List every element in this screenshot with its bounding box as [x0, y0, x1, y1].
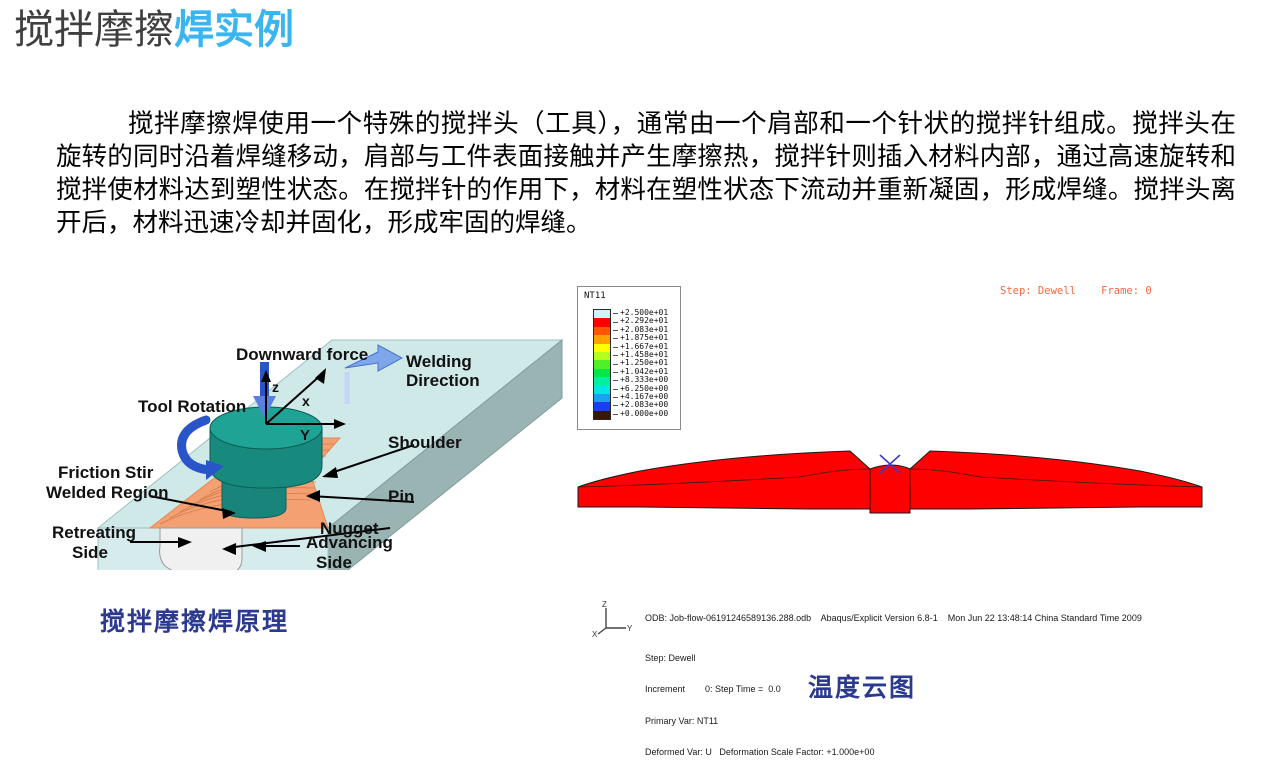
footer-deformed-var: Deformed Var: U Deformation Scale Factor… [645, 747, 1142, 758]
triad-label-y: Y [627, 624, 633, 633]
abaqus-viewport: NT11 +2.500e+01+2.292e+01+2.083e+01+1.87… [570, 280, 1270, 660]
footer-primary-var: Primary Var: NT11 [645, 716, 1142, 727]
triad-label-x: X [592, 630, 598, 638]
legend-swatch [594, 327, 610, 335]
step-frame-status: Step: Dewell Frame: 0 [1000, 285, 1152, 297]
label-welding-direction-line1: Welding [406, 352, 472, 371]
contour-legend: NT11 +2.500e+01+2.292e+01+2.083e+01+1.87… [577, 286, 681, 430]
orientation-triad-icon: Z Y X [592, 598, 636, 638]
label-pin: Pin [388, 487, 414, 506]
body-paragraph: 搅拌摩擦焊使用一个特殊的搅拌头（工具），通常由一个肩部和一个针状的搅拌针组成。搅… [56, 108, 1236, 240]
label-retreating-line1: Retreating [52, 523, 136, 542]
legend-value: +0.000e+00 [613, 410, 668, 418]
legend-color-bar [593, 309, 611, 420]
label-friction-stir-line2: Welded Region [46, 483, 168, 502]
legend-swatch [594, 369, 610, 377]
label-advancing-line2: Side [316, 553, 352, 570]
deformed-weld-bead [870, 465, 910, 513]
legend-body: +2.500e+01+2.292e+01+2.083e+01+1.875e+01… [593, 309, 668, 420]
label-retreating-line2: Side [72, 543, 108, 562]
legend-swatch [594, 335, 610, 343]
legend-swatch [594, 344, 610, 352]
legend-swatch [594, 310, 610, 318]
slide-title-accent: 焊实例 [174, 8, 294, 52]
label-downward-force: Downward force [236, 345, 368, 364]
legend-value-labels: +2.500e+01+2.292e+01+2.083e+01+1.875e+01… [613, 309, 668, 420]
label-tool-rotation: Tool Rotation [138, 397, 246, 416]
legend-swatch [594, 360, 610, 368]
legend-swatch [594, 402, 610, 410]
legend-swatch [594, 386, 610, 394]
label-advancing-line1: Advancing [306, 533, 393, 552]
footer-odb-line: ODB: Job-flow-06191246589136.288.odb Aba… [645, 613, 1142, 624]
label-welding-direction-line2: Direction [406, 371, 480, 390]
legend-swatch [594, 318, 610, 326]
label-axis-y: Y [300, 427, 310, 444]
legend-swatch [594, 411, 610, 419]
caption-temperature-contour: 温度云图 [808, 668, 916, 704]
label-friction-stir-line1: Friction Stir [58, 463, 154, 482]
label-shoulder: Shoulder [388, 433, 462, 452]
footer-step: Step: Dewell [645, 653, 1142, 664]
label-axis-x: x [302, 393, 310, 409]
legend-title: NT11 [584, 291, 606, 301]
slide-title: 搅拌摩擦焊实例 [14, 8, 294, 52]
fsw-principle-diagram: Downward force Welding Direction Tool Ro… [10, 300, 570, 570]
legend-swatch [594, 377, 610, 385]
legend-swatch [594, 394, 610, 402]
deformed-model-plot [570, 435, 1210, 545]
slide-title-plain: 搅拌摩擦 [14, 8, 174, 52]
triad-label-z: Z [602, 600, 607, 609]
legend-swatch [594, 352, 610, 360]
caption-fsw-principle: 搅拌摩擦焊原理 [100, 602, 289, 638]
label-axis-z: z [272, 379, 279, 395]
